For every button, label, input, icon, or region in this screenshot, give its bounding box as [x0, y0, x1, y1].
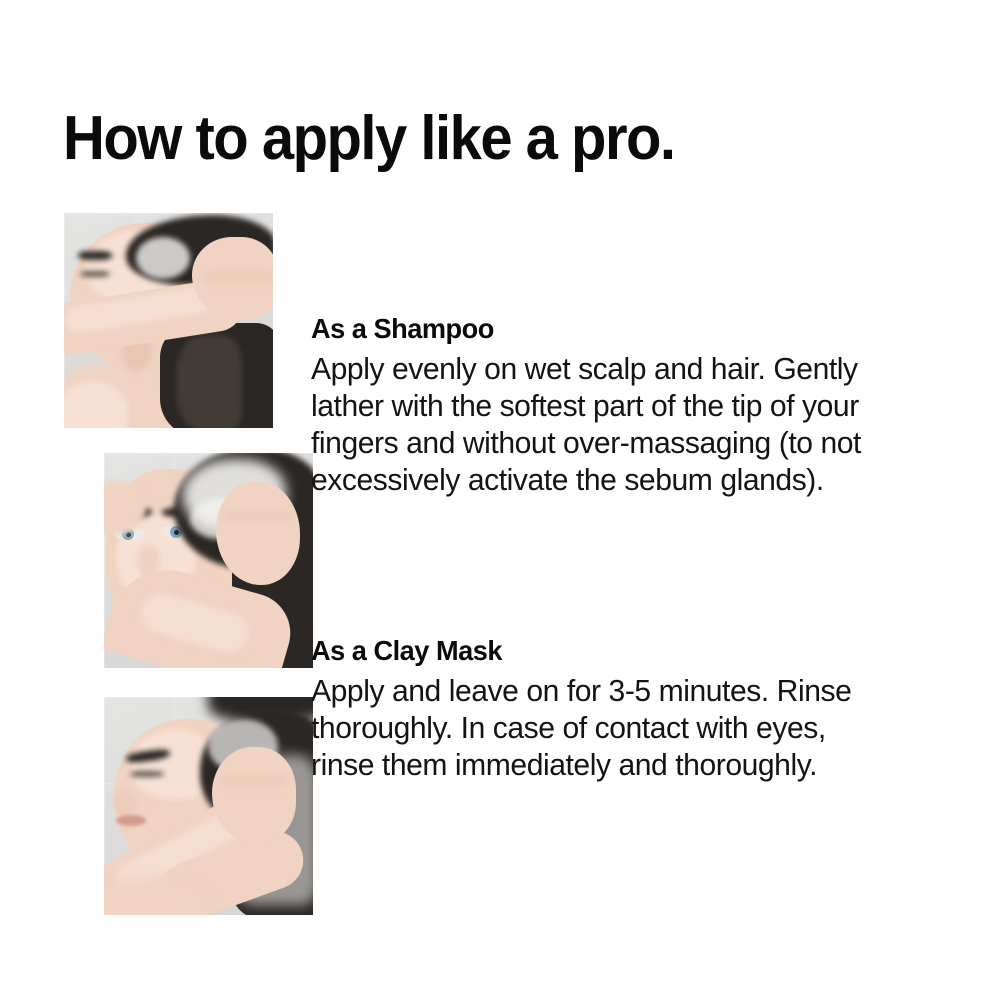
nose-shadow: [112, 789, 138, 815]
photo-column: [64, 213, 273, 931]
finger-shadow: [204, 271, 273, 283]
section-shampoo: As a Shampoo Apply evenly on wet scalp a…: [311, 312, 911, 498]
closed-eye: [130, 771, 164, 777]
section-heading-shampoo: As a Shampoo: [311, 312, 893, 346]
lips: [116, 815, 146, 826]
promo-canvas: How to apply like a pro.: [0, 0, 999, 995]
photo-clay-mask-application: [104, 697, 313, 915]
hand-on-head: [212, 747, 296, 843]
hair-wet-sheen: [176, 335, 242, 428]
photo-shampoo-scalp-massage: [64, 213, 273, 428]
eyebrow: [78, 251, 112, 260]
section-heading-clay-mask: As a Clay Mask: [311, 634, 893, 668]
photo-shampoo-lather-front: [104, 453, 313, 668]
section-clay-mask: As a Clay Mask Apply and leave on for 3-…: [311, 634, 911, 783]
section-body-shampoo: Apply evenly on wet scalp and hair. Gent…: [311, 350, 893, 498]
hand-on-head: [216, 481, 300, 585]
page-title: How to apply like a pro.: [63, 104, 675, 174]
closed-eye: [80, 271, 110, 277]
finger-lines: [220, 775, 288, 786]
section-body-clay-mask: Apply and leave on for 3-5 minutes. Rins…: [311, 672, 893, 783]
product-streak-hairline: [136, 237, 190, 279]
finger-lines: [224, 511, 292, 521]
